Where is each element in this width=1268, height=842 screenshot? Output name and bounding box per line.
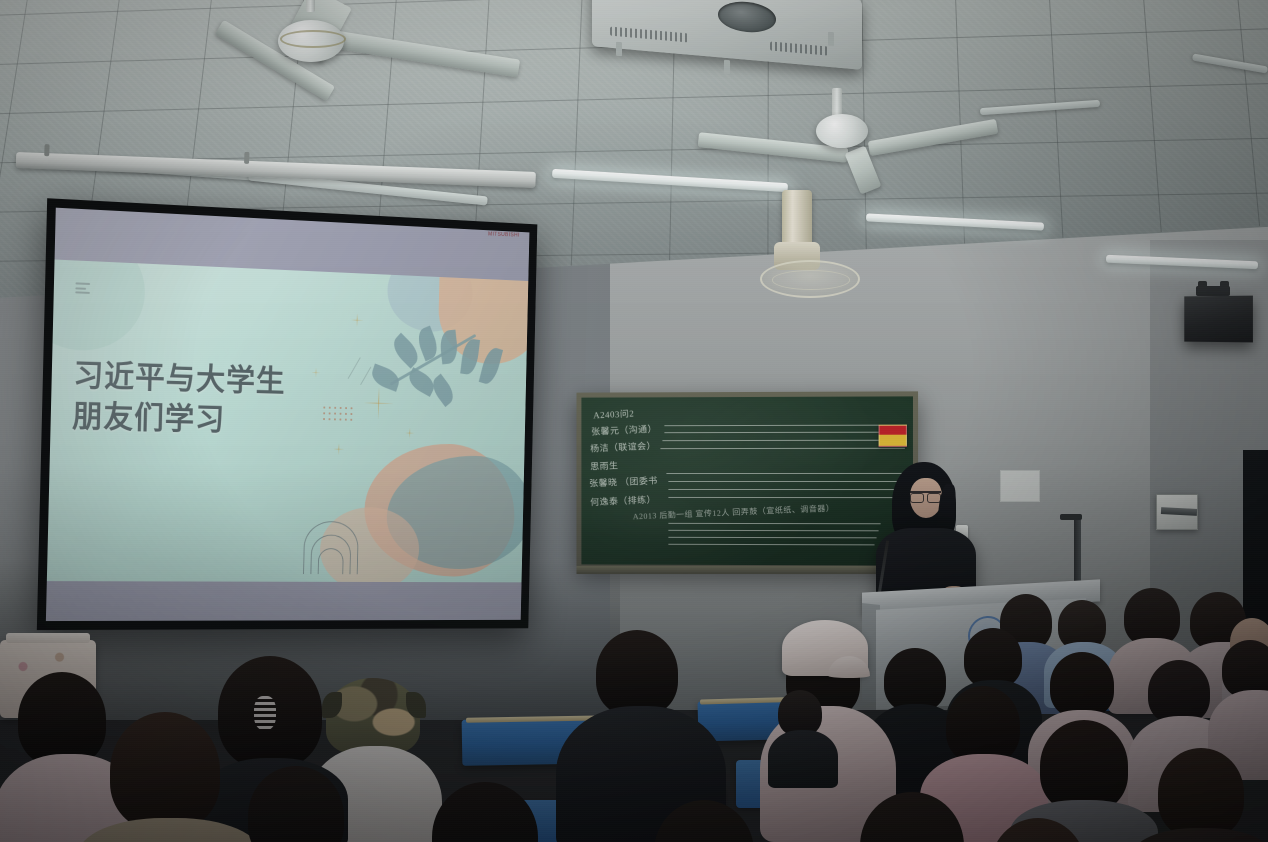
projector-foot	[616, 42, 622, 57]
projector-foot	[724, 60, 730, 75]
projector-brand-label: MITSUBISHI	[488, 231, 520, 238]
head	[884, 648, 946, 712]
camouflage-hat	[326, 678, 420, 754]
head	[1040, 720, 1128, 812]
room-shell: 习近平与大学生 朋友们学习 MITSUBISHI	[0, 0, 1268, 842]
fan-ring	[280, 30, 346, 48]
wall-speaker	[1184, 296, 1253, 343]
glasses-icon	[910, 491, 941, 501]
head	[432, 782, 538, 842]
chalk-line: A2403问2	[593, 406, 634, 421]
torso	[768, 730, 838, 788]
roller-hook	[244, 152, 249, 164]
slide-arch-inner	[318, 548, 344, 574]
head	[1158, 748, 1244, 838]
projection-screen: 习近平与大学生 朋友们学习	[37, 198, 538, 630]
head	[1148, 660, 1210, 724]
ceiling-fan-left	[222, 0, 522, 100]
classroom-photo: 习近平与大学生 朋友们学习 MITSUBISHI	[0, 0, 1268, 842]
fan-neck	[782, 190, 812, 250]
ceiling-fan-right	[818, 88, 1078, 178]
staff-line	[668, 489, 905, 490]
projector-foot	[828, 32, 834, 47]
chalk-line: 思雨生	[590, 459, 619, 473]
slide-star-small	[351, 313, 364, 327]
head	[110, 712, 220, 830]
chalk-tray	[577, 566, 921, 574]
fan-rod	[306, 0, 315, 12]
slide-title-line-2: 朋友们学习	[72, 397, 382, 444]
fan-hub	[816, 114, 868, 148]
slide-leaf	[439, 330, 459, 365]
screen-canvas: 习近平与大学生 朋友们学习	[46, 208, 530, 621]
speaker-knob	[1198, 281, 1207, 292]
fan-blade	[868, 119, 999, 156]
slide-logo-icon	[75, 282, 90, 294]
staff-line	[668, 481, 905, 482]
fan-blade	[320, 28, 520, 77]
staff-line	[668, 497, 902, 498]
ceiling-projector	[592, 0, 882, 76]
slide-content: 习近平与大学生 朋友们学习	[47, 260, 528, 583]
blackboard: A2403问2 张馨元（沟通） 杨洁（联谊会） 思雨生 张馨晓 （团委书 何逸泰…	[576, 391, 918, 570]
head	[18, 672, 106, 766]
fan-cage	[760, 260, 860, 298]
oscillating-fan	[760, 190, 856, 300]
blackboard-notice	[879, 425, 907, 447]
slide-star-small	[405, 428, 415, 439]
roller-hook	[44, 144, 49, 156]
presenter	[872, 462, 980, 598]
slide-letterbox-bottom	[46, 581, 522, 621]
head	[946, 686, 1020, 764]
head	[1050, 652, 1114, 718]
hair-clip	[254, 696, 276, 730]
blackboard-surface: A2403问2 张馨元（沟通） 杨洁（联谊会） 思雨生 张馨晓 （团委书 何逸泰…	[581, 396, 913, 565]
panel-slot	[1161, 507, 1197, 516]
speaker-knob	[1220, 281, 1229, 292]
head	[964, 628, 1022, 688]
wall-notice	[1000, 470, 1040, 502]
slide-star-small	[333, 443, 344, 455]
slide-title: 习近平与大学生 朋友们学习	[72, 356, 382, 444]
slide-blob-mint	[47, 260, 146, 353]
staff-line	[666, 473, 904, 474]
head	[596, 630, 678, 716]
electrical-panel	[1156, 494, 1198, 530]
